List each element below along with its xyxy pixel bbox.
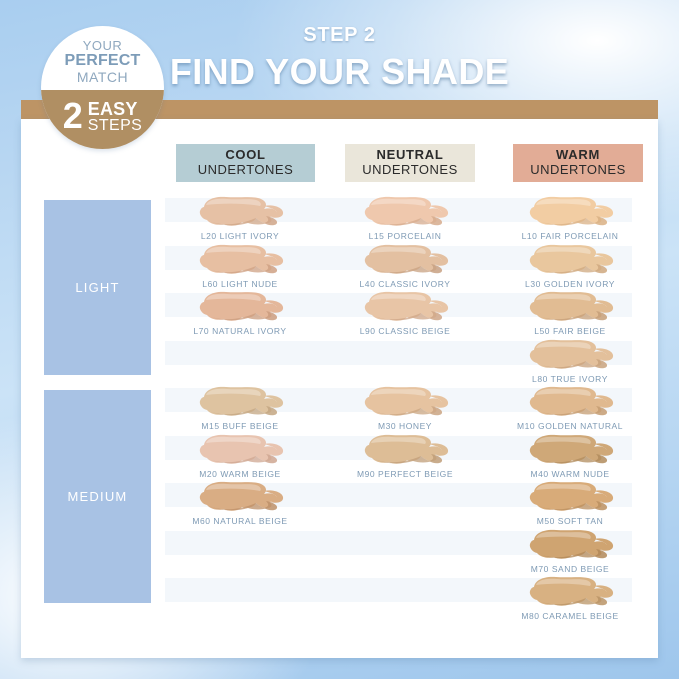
column-header-sub: UNDERTONES (198, 163, 294, 178)
shade-cell[interactable]: L70 NATURAL IVORY (165, 290, 315, 336)
shade-cell[interactable]: L50 FAIR BEIGE (495, 290, 645, 336)
foundation-smear-icon (359, 243, 451, 277)
shade-cell[interactable]: M70 SAND BEIGE (495, 528, 645, 574)
shade-label: M30 HONEY (330, 421, 480, 431)
badge-number: 2 (63, 101, 83, 132)
shade-swatch (524, 528, 616, 562)
badge-line-perfect: PERFECT (64, 53, 140, 70)
shade-label: M15 BUFF BEIGE (165, 421, 315, 431)
shade-label: L50 FAIR BEIGE (495, 326, 645, 336)
column-header-cool: COOLUNDERTONES (176, 144, 315, 182)
foundation-smear-icon (359, 290, 451, 324)
shade-cell[interactable]: L20 LIGHT IVORY (165, 195, 315, 241)
foundation-smear-icon (524, 528, 616, 562)
badge-line-your: YOUR (83, 39, 123, 53)
shade-label: M70 SAND BEIGE (495, 564, 645, 574)
shade-label: L60 LIGHT NUDE (165, 279, 315, 289)
foundation-smear-icon (194, 243, 286, 277)
shade-swatch (194, 195, 286, 229)
shade-label: L80 TRUE IVORY (495, 374, 645, 384)
shade-label: M90 PERFECT BEIGE (330, 469, 480, 479)
shade-cell[interactable]: L40 CLASSIC IVORY (330, 243, 480, 289)
shade-finder-poster: STEP 2 FIND YOUR SHADE COOLUNDERTONESNEU… (0, 0, 679, 679)
shade-label: M60 NATURAL BEIGE (165, 516, 315, 526)
shade-cell[interactable]: M60 NATURAL BEIGE (165, 480, 315, 526)
shade-label: L10 FAIR PORCELAIN (495, 231, 645, 241)
shade-label: L20 LIGHT IVORY (165, 231, 315, 241)
foundation-smear-icon (524, 480, 616, 514)
shade-swatch (194, 433, 286, 467)
foundation-smear-icon (524, 575, 616, 609)
shade-label: L40 CLASSIC IVORY (330, 279, 480, 289)
group-block-light: LIGHT (44, 200, 151, 375)
shade-label: L30 GOLDEN IVORY (495, 279, 645, 289)
foundation-smear-icon (524, 195, 616, 229)
foundation-smear-icon (359, 433, 451, 467)
shade-cell[interactable]: L80 TRUE IVORY (495, 338, 645, 384)
shade-swatch (524, 575, 616, 609)
shade-cell[interactable]: M80 CARAMEL BEIGE (495, 575, 645, 621)
shade-swatch (359, 290, 451, 324)
shade-swatch (359, 385, 451, 419)
column-header-name: COOL (225, 148, 265, 163)
shade-label: M80 CARAMEL BEIGE (495, 611, 645, 621)
shade-cell[interactable]: M20 WARM BEIGE (165, 433, 315, 479)
column-header-name: NEUTRAL (376, 148, 443, 163)
shade-cell[interactable]: L15 PORCELAIN (330, 195, 480, 241)
shade-cell[interactable]: M40 WARM NUDE (495, 433, 645, 479)
shade-swatch (359, 195, 451, 229)
badge-easy-label: EASY (88, 100, 142, 118)
shade-swatch (359, 433, 451, 467)
column-header-sub: UNDERTONES (362, 163, 458, 178)
group-label: MEDIUM (68, 489, 128, 504)
foundation-smear-icon (524, 433, 616, 467)
shade-cell[interactable]: L30 GOLDEN IVORY (495, 243, 645, 289)
shade-swatch (194, 385, 286, 419)
column-header-sub: UNDERTONES (530, 163, 626, 178)
shade-label: L70 NATURAL IVORY (165, 326, 315, 336)
shade-label: M20 WARM BEIGE (165, 469, 315, 479)
shade-cell[interactable]: M50 SOFT TAN (495, 480, 645, 526)
shade-label: M50 SOFT TAN (495, 516, 645, 526)
shade-swatch (194, 290, 286, 324)
shade-label: M40 WARM NUDE (495, 469, 645, 479)
shade-swatch (524, 385, 616, 419)
shade-cell[interactable]: L60 LIGHT NUDE (165, 243, 315, 289)
foundation-smear-icon (194, 385, 286, 419)
column-header-name: WARM (556, 148, 600, 163)
shade-cell[interactable]: M90 PERFECT BEIGE (330, 433, 480, 479)
shade-cell[interactable]: L90 CLASSIC BEIGE (330, 290, 480, 336)
shade-swatch (524, 243, 616, 277)
shade-swatch (359, 243, 451, 277)
foundation-smear-icon (194, 290, 286, 324)
shade-label: L15 PORCELAIN (330, 231, 480, 241)
foundation-smear-icon (524, 385, 616, 419)
badge-steps-label: STEPS (88, 118, 142, 134)
column-header-neutral: NEUTRALUNDERTONES (345, 144, 475, 182)
shade-swatch (524, 480, 616, 514)
foundation-smear-icon (194, 480, 286, 514)
badge-top: YOUR PERFECT MATCH (41, 26, 164, 90)
shade-cell[interactable]: L10 FAIR PORCELAIN (495, 195, 645, 241)
foundation-smear-icon (524, 290, 616, 324)
shade-cell[interactable]: M15 BUFF BEIGE (165, 385, 315, 431)
shade-cell[interactable]: M30 HONEY (330, 385, 480, 431)
shade-swatch (524, 195, 616, 229)
foundation-smear-icon (194, 433, 286, 467)
shade-swatch (524, 290, 616, 324)
foundation-smear-icon (359, 195, 451, 229)
group-label: LIGHT (75, 280, 119, 295)
shade-swatch (524, 338, 616, 372)
foundation-smear-icon (194, 195, 286, 229)
foundation-smear-icon (524, 338, 616, 372)
group-block-medium: MEDIUM (44, 390, 151, 603)
shade-swatch (194, 480, 286, 514)
foundation-smear-icon (359, 385, 451, 419)
badge-line-match: MATCH (77, 70, 128, 85)
shade-swatch (524, 433, 616, 467)
shade-cell[interactable]: M10 GOLDEN NATURAL (495, 385, 645, 431)
perfect-match-badge: YOUR PERFECT MATCH 2 EASY STEPS (41, 26, 164, 149)
shade-swatch (194, 243, 286, 277)
foundation-smear-icon (524, 243, 616, 277)
column-header-warm: WARMUNDERTONES (513, 144, 643, 182)
shade-label: M10 GOLDEN NATURAL (495, 421, 645, 431)
shade-label: L90 CLASSIC BEIGE (330, 326, 480, 336)
